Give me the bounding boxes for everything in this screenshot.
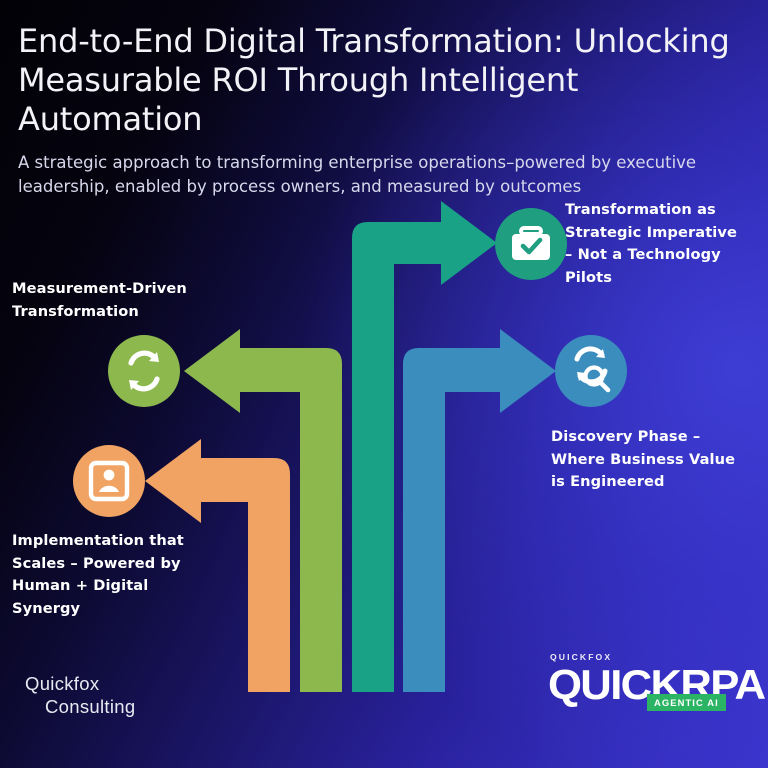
quickrpa-logo: QUICKFOX QUICKRPA AGENTIC AI — [548, 652, 758, 724]
node-measurement[interactable] — [108, 335, 180, 407]
node-discovery-circle — [555, 335, 627, 407]
node-strategic[interactable] — [495, 208, 567, 280]
node-measurement-circle — [108, 335, 180, 407]
node-implementation[interactable] — [73, 445, 145, 517]
infographic-canvas: End-to-End Digital Transformation: Unloc… — [0, 0, 768, 768]
consulting-logo-line1: Quickfox — [25, 673, 99, 694]
node-discovery[interactable] — [555, 335, 627, 407]
quickfox-consulting-logo: Quickfox Consulting — [25, 672, 135, 718]
quickrpa-agentic-ai-badge: AGENTIC AI — [647, 694, 726, 711]
node-label-measurement: Measurement-Driven Transformation — [12, 278, 212, 323]
arrow-to-discovery — [403, 329, 556, 692]
node-label-discovery: Discovery Phase – Where Business Value i… — [551, 426, 751, 494]
node-label-implementation: Implementation that Scales – Powered by … — [12, 530, 204, 620]
consulting-logo-line2: Consulting — [25, 695, 135, 718]
node-label-strategic: Transformation as Strategic Imperative –… — [565, 199, 761, 289]
node-implementation-circle — [73, 445, 145, 517]
